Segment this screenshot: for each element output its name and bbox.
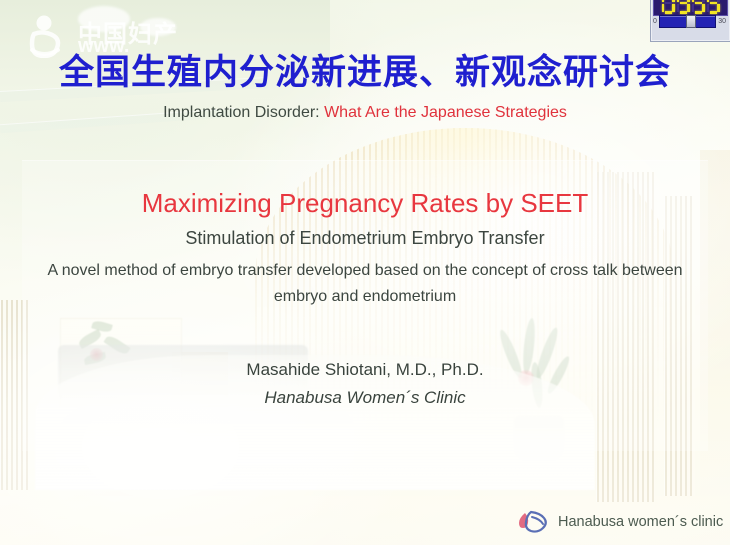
segment-digit xyxy=(662,0,675,14)
segment-digit xyxy=(677,0,690,14)
conference-subtitle-lead: Implantation Disorder: xyxy=(163,104,320,121)
slider-min-label: 0 xyxy=(653,18,657,25)
slider-max-label: 30 xyxy=(718,18,726,25)
slide-description: A novel method of embryo transfer develo… xyxy=(45,258,685,310)
conference-title: 全国生殖内分泌新进展、新观念研讨会 xyxy=(0,44,730,95)
conference-subtitle: Implantation Disorder: What Are the Japa… xyxy=(0,104,730,122)
presenter-affiliation: Hanabusa Women´s Clinic xyxy=(0,388,730,408)
clinic-logo: Hanabusa women´s clinic xyxy=(519,508,723,536)
seven-segment-display xyxy=(653,0,728,16)
slide-title: Maximizing Pregnancy Rates by SEET xyxy=(0,188,730,219)
slider-thumb[interactable] xyxy=(686,15,696,28)
counter-widget[interactable]: 0 30 xyxy=(650,0,730,42)
video-frame: 全国生殖内分泌新进展、新观念研讨会 Implantation Disorder:… xyxy=(0,0,730,545)
conference-subtitle-highlight: What Are the Japanese Strategies xyxy=(324,104,567,121)
clinic-logo-name: Hanabusa women´s clinic xyxy=(558,514,723,530)
segment-digit xyxy=(692,0,705,14)
slider-track[interactable] xyxy=(659,15,716,28)
segment-digit xyxy=(707,0,720,14)
volume-slider-row[interactable]: 0 30 xyxy=(653,15,726,28)
hanabusa-flower-logo-icon xyxy=(519,509,551,535)
presenter-name: Masahide Shiotani, M.D., Ph.D. xyxy=(0,360,730,380)
slide-subtitle: Stimulation of Endometrium Embryo Transf… xyxy=(0,228,730,249)
